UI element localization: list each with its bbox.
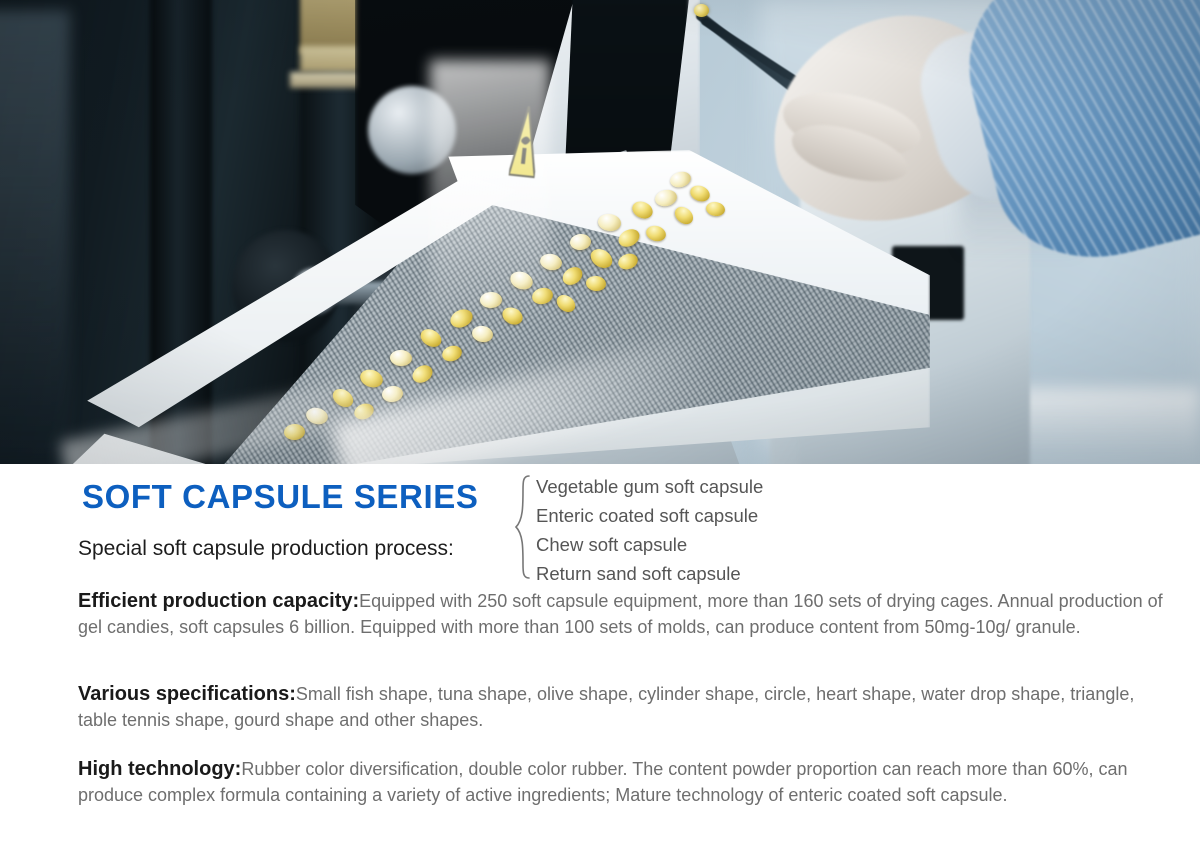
paragraph-efficient-production-capacity: Efficient production capacity:Equipped w… xyxy=(78,589,1178,641)
capsule-types-list: Vegetable gum soft capsule Enteric coate… xyxy=(536,472,763,588)
list-item: Enteric coated soft capsule xyxy=(536,501,763,530)
page-title: SOFT CAPSULE SERIES xyxy=(82,478,478,516)
list-item: Chew soft capsule xyxy=(536,530,763,559)
paragraph-high-technology: High technology:Rubber color diversifica… xyxy=(78,757,1178,809)
capsule-types-group: Vegetable gum soft capsule Enteric coate… xyxy=(512,472,932,582)
paragraph-lead: Various specifications: xyxy=(78,683,296,705)
paragraph-lead: High technology: xyxy=(78,758,241,780)
list-item: Vegetable gum soft capsule xyxy=(536,472,763,501)
soft-capsule-production-photo xyxy=(0,0,1200,466)
list-item: Return sand soft capsule xyxy=(536,559,763,588)
photo-vignette xyxy=(0,0,1200,464)
subtitle: Special soft capsule production process: xyxy=(78,537,454,561)
text-content-area: SOFT CAPSULE SERIES Special soft capsule… xyxy=(0,464,1200,842)
paragraph-lead: Efficient production capacity: xyxy=(78,590,359,612)
product-brochure-page: SOFT CAPSULE SERIES Special soft capsule… xyxy=(0,0,1200,842)
paragraph-various-specifications: Various specifications:Small fish shape,… xyxy=(78,682,1178,734)
curly-brace-icon xyxy=(512,474,534,580)
